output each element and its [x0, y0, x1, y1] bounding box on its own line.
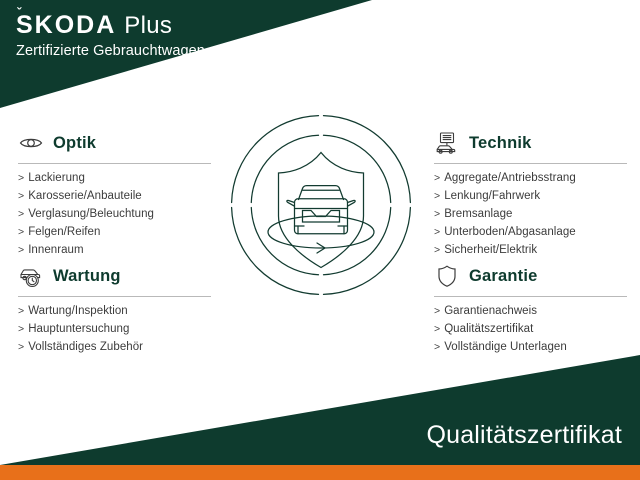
section-title-garantie: Garantie — [469, 268, 538, 285]
list-item-label: Hauptuntersuchung — [28, 321, 129, 339]
list-item-label: Verglasung/Beleuchtung — [28, 206, 154, 224]
section-list-garantie: >Garantienachweis >Qualitätszertifikat >… — [434, 303, 630, 357]
section-list-technik: >Aggregate/Antriebsstrang >Lenkung/Fahrw… — [434, 170, 630, 260]
section-list-optik: >Lackierung >Karosserie/Anbauteile >Verg… — [18, 170, 214, 260]
section-divider-garantie — [434, 296, 627, 297]
list-item-label: Wartung/Inspektion — [28, 303, 128, 321]
chevron-right-icon: > — [434, 188, 440, 205]
list-item: >Karosserie/Anbauteile — [18, 188, 214, 206]
section-header-optik: Optik — [18, 128, 214, 158]
chevron-right-icon: > — [18, 339, 24, 356]
section-header-wartung: Wartung — [18, 261, 214, 291]
list-item-label: Qualitätszertifikat — [444, 321, 533, 339]
list-item: >Garantienachweis — [434, 303, 630, 321]
list-item-label: Karosserie/Anbauteile — [28, 188, 142, 206]
list-item: >Vollständiges Zubehör — [18, 339, 214, 357]
brand-skoda-text: SKODA — [16, 11, 116, 39]
list-item-label: Vollständiges Zubehör — [28, 339, 143, 357]
eye-icon — [18, 130, 44, 156]
section-divider-wartung — [18, 296, 211, 297]
chevron-right-icon: > — [18, 303, 24, 320]
list-item: >Verglasung/Beleuchtung — [18, 206, 214, 224]
section-divider-optik — [18, 163, 211, 164]
list-item: >Qualitätszertifikat — [434, 321, 630, 339]
list-item: >Lackierung — [18, 170, 214, 188]
list-item: >Unterboden/Abgasanlage — [434, 224, 630, 242]
chevron-right-icon: > — [18, 170, 24, 187]
list-item-label: Bremsanlage — [444, 206, 512, 224]
chevron-right-icon: > — [434, 206, 440, 223]
section-divider-technik — [434, 163, 627, 164]
section-header-garantie: Garantie — [434, 261, 630, 291]
list-item: >Felgen/Reifen — [18, 224, 214, 242]
section-garantie: Garantie >Garantienachweis >Qualitätszer… — [434, 261, 630, 357]
certificate-page: ˇ SKODA Plus Zertifizierte Gebrauchtwage… — [0, 0, 640, 480]
section-wartung: Wartung >Wartung/Inspektion >Hauptunters… — [18, 261, 214, 357]
chevron-right-icon: > — [434, 242, 440, 259]
emblem-orbit — [268, 216, 374, 248]
section-list-wartung: >Wartung/Inspektion >Hauptuntersuchung >… — [18, 303, 214, 357]
shield-icon — [434, 263, 460, 289]
list-item-label: Lenkung/Fahrwerk — [444, 188, 540, 206]
list-item: >Vollständige Unterlagen — [434, 339, 630, 357]
list-item-label: Sicherheit/Elektrik — [444, 242, 537, 260]
chevron-right-icon: > — [434, 339, 440, 356]
brand-subtitle: Zertifizierte Gebrauchtwagen — [16, 43, 205, 59]
section-header-technik: Technik — [434, 128, 630, 158]
chevron-right-icon: > — [434, 224, 440, 241]
certified-car-shield-emblem — [228, 112, 414, 298]
caron-accent-icon: ˇ — [17, 6, 21, 19]
list-item: >Bremsanlage — [434, 206, 630, 224]
chevron-right-icon: > — [18, 242, 24, 259]
brand-skoda-wordmark: ˇ SKODA — [16, 13, 116, 38]
list-item: >Sicherheit/Elektrik — [434, 242, 630, 260]
footer-title: Qualitätszertifikat — [426, 421, 622, 450]
list-item-label: Garantienachweis — [444, 303, 537, 321]
list-item: >Innenraum — [18, 242, 214, 260]
chevron-right-icon: > — [18, 188, 24, 205]
chevron-right-icon: > — [18, 206, 24, 223]
brand-plus-text: Plus — [124, 14, 172, 38]
list-item: >Wartung/Inspektion — [18, 303, 214, 321]
brand-lockup: ˇ SKODA Plus Zertifizierte Gebrauchtwage… — [16, 13, 205, 59]
brand-line: ˇ SKODA Plus — [16, 13, 205, 38]
section-optik: Optik >Lackierung >Karosserie/Anbauteile… — [18, 128, 214, 260]
chevron-right-icon: > — [18, 224, 24, 241]
section-technik: Technik >Aggregate/Antriebsstrang >Lenku… — [434, 128, 630, 260]
list-item: >Lenkung/Fahrwerk — [434, 188, 630, 206]
section-title-technik: Technik — [469, 135, 532, 152]
footer-accent-strip — [0, 465, 640, 480]
list-item-label: Vollständige Unterlagen — [444, 339, 567, 357]
section-title-optik: Optik — [53, 135, 96, 152]
chevron-right-icon: > — [434, 170, 440, 187]
list-item-label: Unterboden/Abgasanlage — [444, 224, 576, 242]
list-item-label: Felgen/Reifen — [28, 224, 100, 242]
section-title-wartung: Wartung — [53, 268, 121, 285]
list-item: >Aggregate/Antriebsstrang — [434, 170, 630, 188]
emblem-car — [287, 186, 355, 234]
list-item-label: Lackierung — [28, 170, 85, 188]
chevron-right-icon: > — [434, 303, 440, 320]
list-item-label: Innenraum — [28, 242, 83, 260]
car-lift-icon — [434, 130, 460, 156]
inner-ring — [251, 135, 390, 274]
chevron-right-icon: > — [434, 321, 440, 338]
car-clock-icon — [18, 263, 44, 289]
list-item: >Hauptuntersuchung — [18, 321, 214, 339]
chevron-right-icon: > — [18, 321, 24, 338]
list-item-label: Aggregate/Antriebsstrang — [444, 170, 576, 188]
